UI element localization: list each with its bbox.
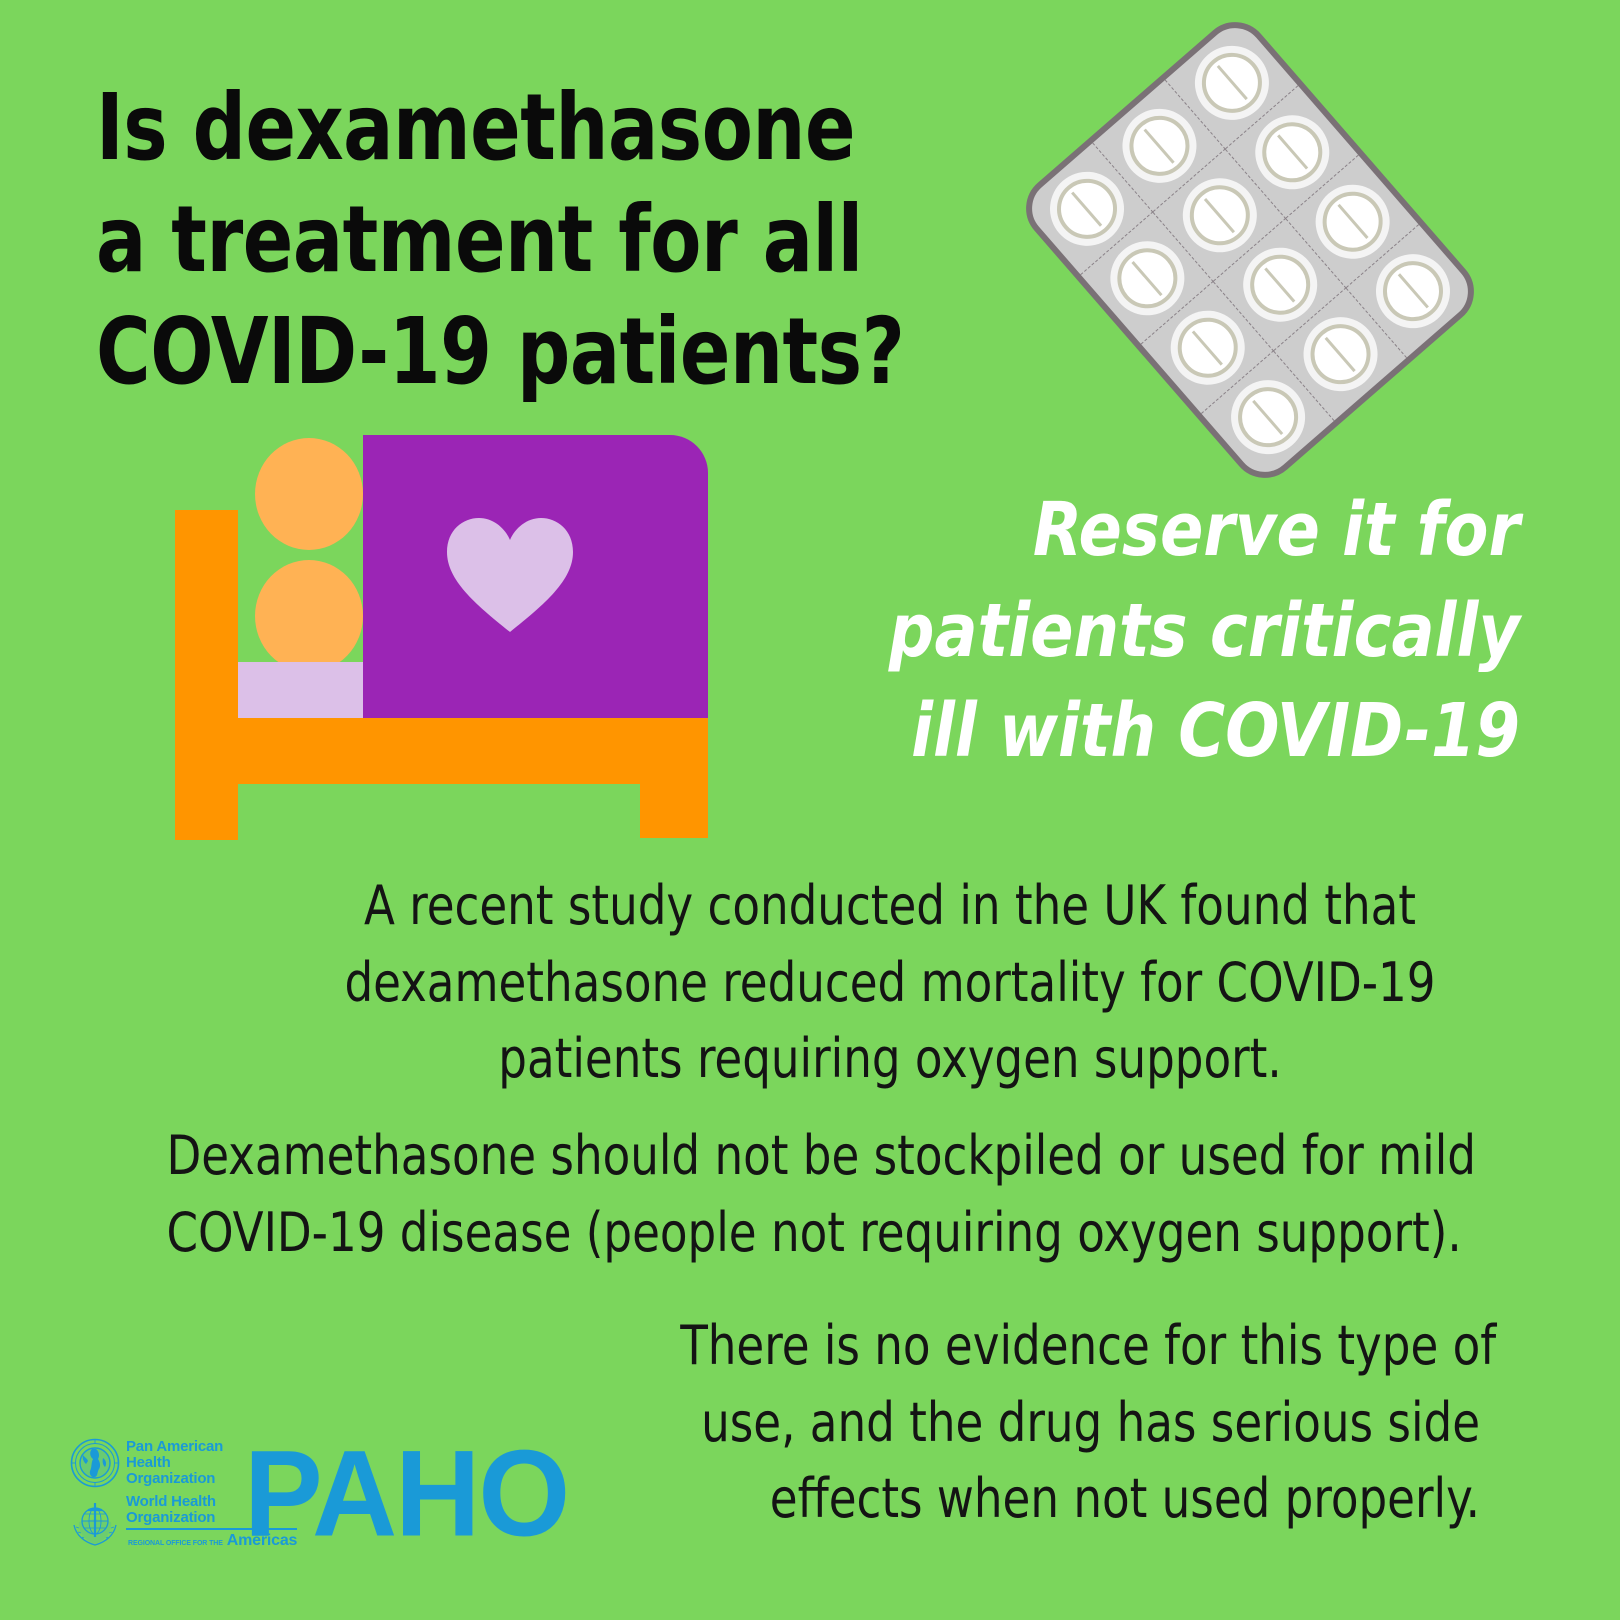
- paragraph-1-line-3: patients requiring oxygen support.: [341, 1021, 1438, 1098]
- pill-icon: [1189, 40, 1274, 125]
- paragraph-3-line-1: There is no evidence for this type of: [680, 1308, 1480, 1385]
- pill-icon: [1165, 305, 1250, 390]
- paho-emblem-lockup: Pan American Health Organization: [70, 1438, 220, 1550]
- paho-label-line-2: Health: [126, 1455, 223, 1471]
- regional-office-label: REGIONAL OFFICE FOR THE: [128, 1540, 223, 1547]
- pullquote-line-2: patients critically: [790, 581, 1520, 682]
- pill-blister-pack-icon: [1040, 60, 1460, 440]
- pan-american-health-organization-label: Pan American Health Organization: [126, 1439, 223, 1487]
- pill-icon: [1371, 249, 1456, 334]
- bed-pillow: [238, 662, 364, 720]
- paragraph-3-line-3: effects when not used properly.: [680, 1461, 1480, 1538]
- bed-leg-right: [640, 718, 708, 838]
- pill-icon: [1104, 236, 1189, 321]
- paragraph-1-line-2: dexamethasone reduced mortality for COVI…: [341, 945, 1438, 1022]
- patient-head-shape: [255, 438, 363, 550]
- world-health-organization-row: World Health Organization REGIONAL OFFIC…: [70, 1494, 220, 1550]
- pill-icon: [1237, 242, 1322, 327]
- pill-icon: [1225, 375, 1310, 460]
- headline-line-2: a treatment for all: [96, 184, 906, 296]
- paragraph-3-line-2: use, and the drug has serious side: [680, 1385, 1480, 1462]
- pill-icon: [1250, 110, 1335, 195]
- paho-logo: Pan American Health Organization: [70, 1428, 568, 1560]
- pullquote-line-3: ill with COVID-19: [790, 681, 1520, 782]
- paragraph-1-line-1: A recent study conducted in the UK found…: [341, 868, 1438, 945]
- paho-wordmark: PAHO: [244, 1433, 568, 1556]
- paho-label-line-3: Organization: [126, 1471, 223, 1487]
- body-paragraph-2: Dexamethasone should not be stockpiled o…: [166, 1118, 1453, 1271]
- body-paragraph-3: There is no evidence for this type of us…: [680, 1308, 1480, 1538]
- blister-pack-body: [1012, 8, 1488, 492]
- pill-icon: [1044, 166, 1129, 251]
- pill-icon: [1298, 312, 1383, 397]
- pill-icon: [1310, 179, 1395, 264]
- world-health-organization-emblem: [70, 1497, 120, 1547]
- patient-body-shape: [255, 560, 363, 672]
- bed-headboard-post: [175, 510, 238, 840]
- paragraph-2-line-2: COVID-19 disease (people not requiring o…: [166, 1195, 1453, 1272]
- infographic-poster: Is dexamethasone a treatment for all COV…: [0, 0, 1620, 1620]
- body-paragraph-1: A recent study conducted in the UK found…: [341, 868, 1438, 1098]
- headline-line-1: Is dexamethasone: [96, 72, 906, 184]
- page-title: Is dexamethasone a treatment for all COV…: [96, 72, 906, 409]
- paragraph-2-line-1: Dexamethasone should not be stockpiled o…: [166, 1118, 1453, 1195]
- heart-icon: [445, 516, 575, 632]
- pullquote-line-1: Reserve it for: [790, 480, 1520, 581]
- pill-icon: [1177, 173, 1262, 258]
- paho-label-line-1: Pan American: [126, 1439, 223, 1455]
- headline-line-3: COVID-19 patients?: [96, 296, 906, 408]
- bed-mattress-base: [175, 718, 708, 784]
- blister-pill-grid: [1021, 17, 1480, 484]
- pill-icon: [1116, 103, 1201, 188]
- pullquote: Reserve it for patients critically ill w…: [790, 480, 1520, 782]
- pan-american-health-organization-row: Pan American Health Organization: [70, 1438, 220, 1488]
- pan-american-health-organization-emblem: [70, 1438, 120, 1488]
- hospital-bed-patient-icon: [175, 430, 715, 840]
